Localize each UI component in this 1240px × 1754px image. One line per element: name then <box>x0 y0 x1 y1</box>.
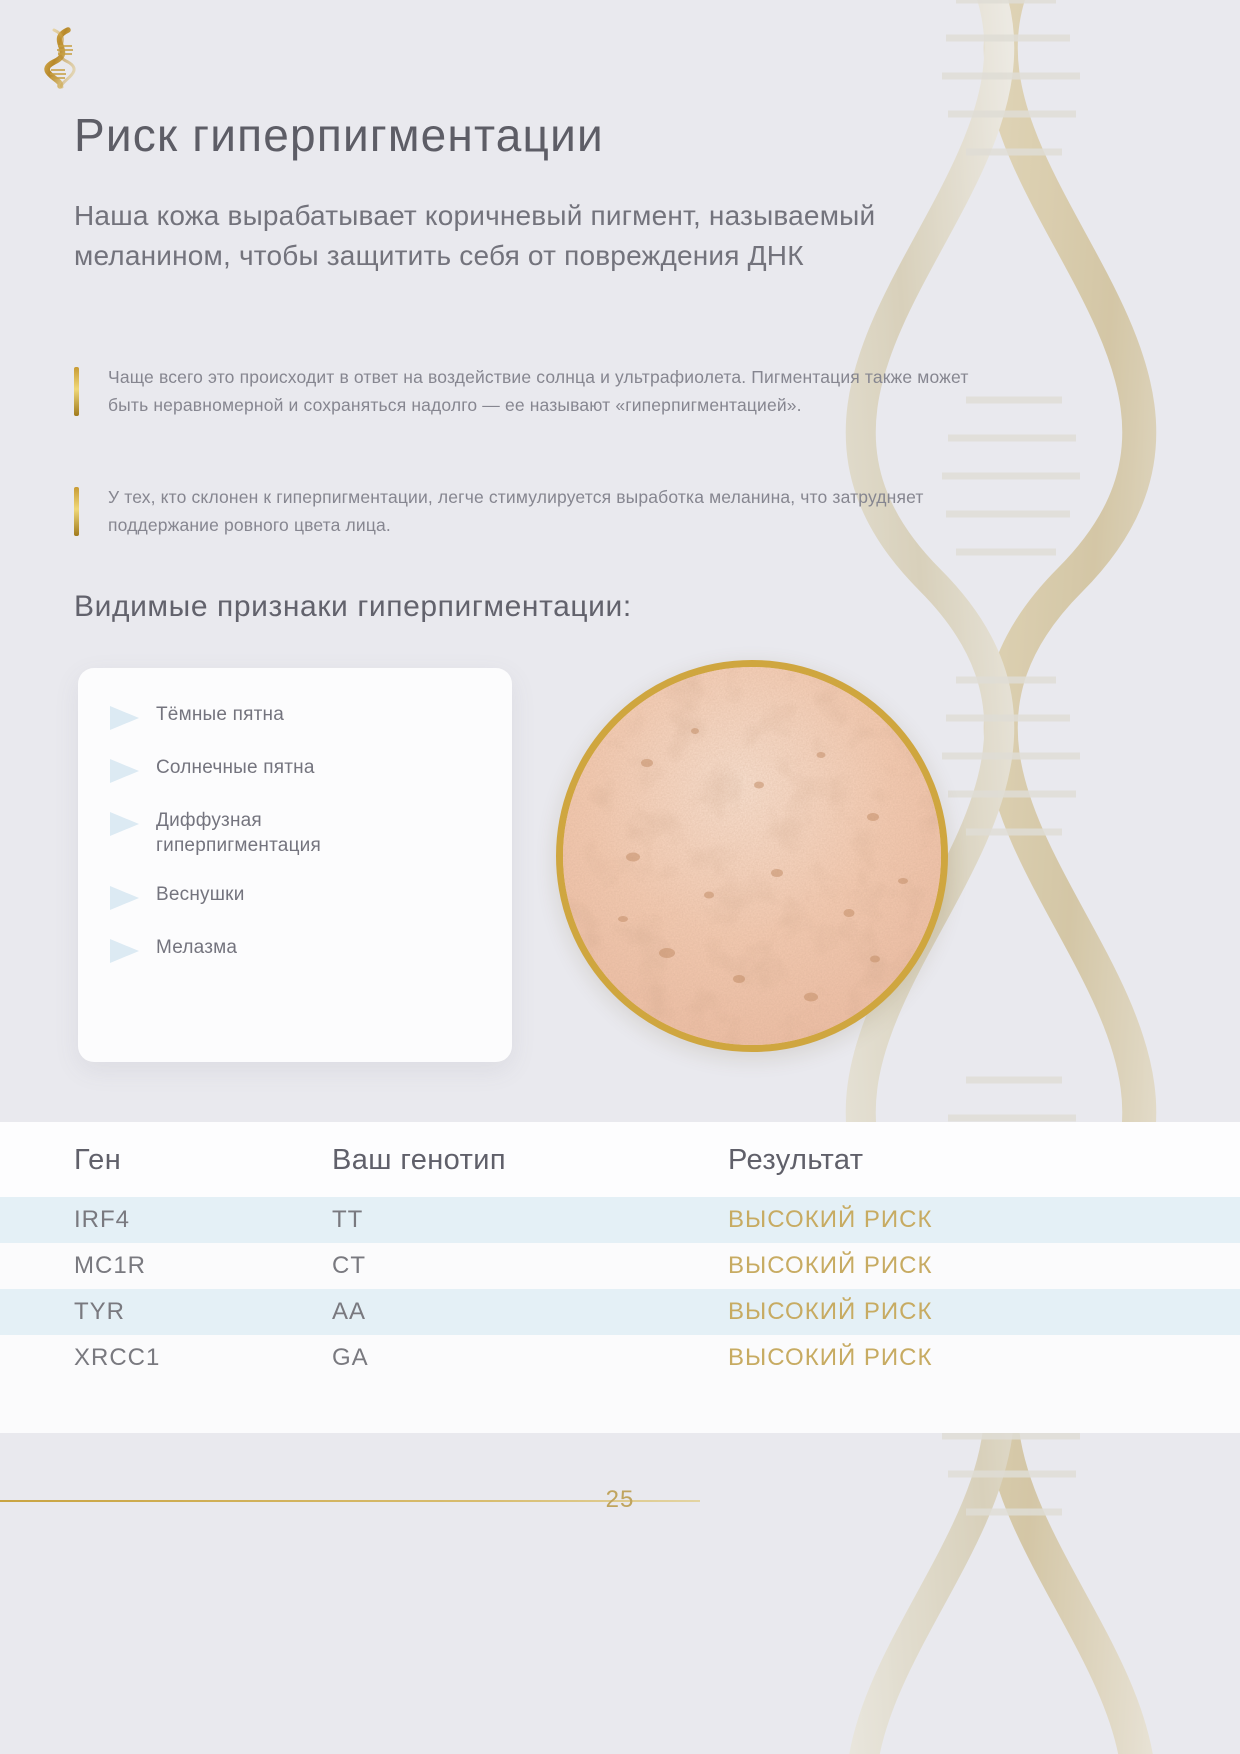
cell-gene: MC1R <box>0 1243 320 1289</box>
signs-heading: Видимые признаки гиперпигментации: <box>74 590 632 624</box>
cell-gene: TYR <box>0 1289 320 1335</box>
list-item: Диффузная гиперпигментация <box>78 808 512 858</box>
genotype-results-table: Ген Ваш генотип Результат IRF4 TT ВЫСОКИ… <box>0 1122 1240 1433</box>
visible-signs-card: Тёмные пятна Солнечные пятна Диффузная г… <box>78 668 512 1062</box>
list-item: Тёмные пятна <box>78 702 512 731</box>
cell-result: ВЫСОКИЙ РИСК <box>720 1197 1240 1243</box>
table-row: XRCC1 GA ВЫСОКИЙ РИСК <box>0 1335 1240 1381</box>
cell-gene: IRF4 <box>0 1197 320 1243</box>
triangle-right-icon <box>108 811 142 837</box>
list-item-label: Солнечные пятна <box>156 755 315 780</box>
cell-genotype: CT <box>320 1243 720 1289</box>
cell-gene: XRCC1 <box>0 1335 320 1381</box>
table-bottom-spacer <box>0 1381 1240 1433</box>
callout-block-2: У тех, кто склонен к гиперпигментации, л… <box>74 483 974 540</box>
cell-result: ВЫСОКИЙ РИСК <box>720 1335 1240 1381</box>
callout-text-1: Чаще всего это происходит в ответ на воз… <box>108 363 974 420</box>
list-item: Веснушки <box>78 882 512 911</box>
list-item: Солнечные пятна <box>78 755 512 784</box>
table-row: TYR AA ВЫСОКИЙ РИСК <box>0 1289 1240 1335</box>
cell-result: ВЫСОКИЙ РИСК <box>720 1289 1240 1335</box>
lead-paragraph: Наша кожа вырабатывает коричневый пигмен… <box>74 196 934 277</box>
column-header-genotype: Ваш генотип <box>320 1122 720 1197</box>
triangle-right-icon <box>108 705 142 731</box>
table-row: IRF4 TT ВЫСОКИЙ РИСК <box>0 1197 1240 1243</box>
list-item: Мелазма <box>78 935 512 964</box>
callout-block-1: Чаще всего это происходит в ответ на воз… <box>74 363 974 420</box>
gold-accent-bar <box>74 487 79 536</box>
cell-result: ВЫСОКИЙ РИСК <box>720 1243 1240 1289</box>
column-header-result: Результат <box>720 1122 1240 1197</box>
table-row: MC1R CT ВЫСОКИЙ РИСК <box>0 1243 1240 1289</box>
list-item-label: Диффузная гиперпигментация <box>156 808 426 858</box>
list-item-label: Тёмные пятна <box>156 702 284 727</box>
callout-text-2: У тех, кто склонен к гиперпигментации, л… <box>108 483 974 540</box>
page-number: 25 <box>0 1486 1240 1514</box>
gold-accent-bar <box>74 367 79 416</box>
cell-genotype: TT <box>320 1197 720 1243</box>
column-header-gene: Ген <box>0 1122 320 1197</box>
triangle-right-icon <box>108 885 142 911</box>
list-item-label: Мелазма <box>156 935 237 960</box>
skin-hyperpigmentation-photo <box>556 660 948 1052</box>
cell-genotype: GA <box>320 1335 720 1381</box>
triangle-right-icon <box>108 758 142 784</box>
table-header-row: Ген Ваш генотип Результат <box>0 1122 1240 1197</box>
triangle-right-icon <box>108 938 142 964</box>
dna-helix-icon <box>38 22 84 92</box>
page-title: Риск гиперпигментации <box>74 108 604 162</box>
cell-genotype: AA <box>320 1289 720 1335</box>
list-item-label: Веснушки <box>156 882 245 907</box>
